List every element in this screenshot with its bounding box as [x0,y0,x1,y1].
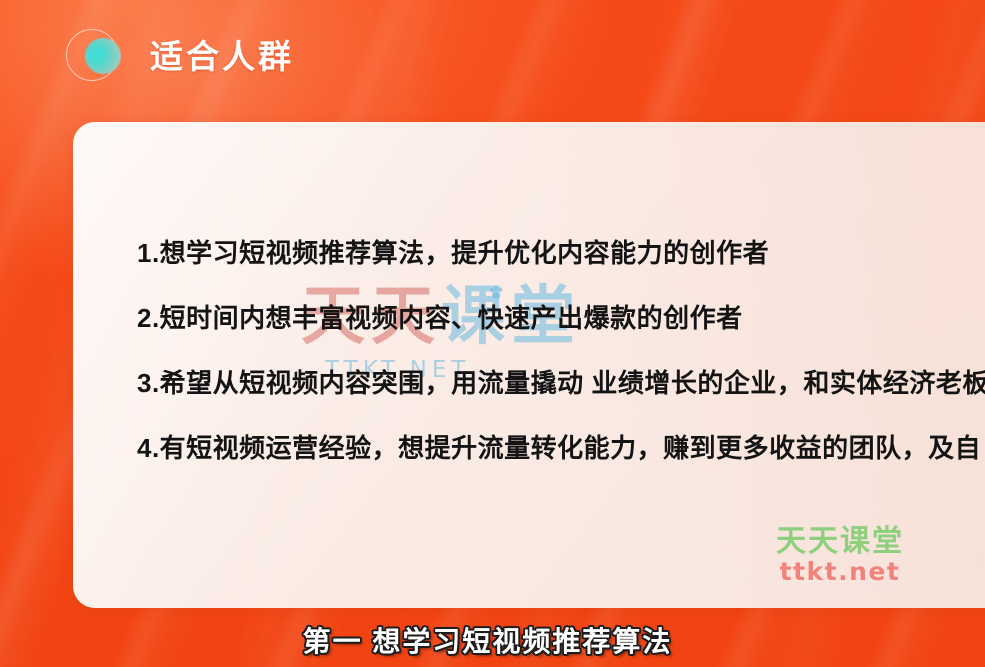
list-item: 4.有短视频运营经验，想提升流量转化能力，赚到更多收益的团队，及自 [137,435,985,461]
bottom-right-watermark-url: ttkt.net [776,558,904,586]
list-item: 3.希望从短视频内容突围，用流量撬动 业绩增长的企业，和实体经济老板 [137,370,985,396]
subtitle-caption-bar: 第一 想学习短视频推荐算法 [0,625,985,659]
bottom-right-watermark: 天天课堂 ttkt.net [776,526,904,585]
circle-crescent-logo-icon [66,29,122,85]
logo-dot-icon [85,38,121,74]
page-title: 适合人群 [150,40,294,73]
list-item: 2.短时间内想丰富视频内容、快速产出爆款的创作者 [137,305,985,331]
bottom-right-watermark-brand: 天天课堂 [776,526,904,558]
content-card: 天天课堂 TTKT.NET 1.想学习短视频推荐算法，提升优化内容能力的创作者 … [73,122,985,608]
bullet-list: 1.想学习短视频推荐算法，提升优化内容能力的创作者 2.短时间内想丰富视频内容、… [137,240,985,461]
subtitle-caption-text: 第一 想学习短视频推荐算法 [303,625,673,659]
slide-canvas: 适合人群 天天课堂 TTKT.NET 1.想学习短视频推荐算法，提升优化内容能力… [0,0,985,667]
slide-header: 适合人群 [0,0,985,112]
list-item: 1.想学习短视频推荐算法，提升优化内容能力的创作者 [137,240,985,266]
